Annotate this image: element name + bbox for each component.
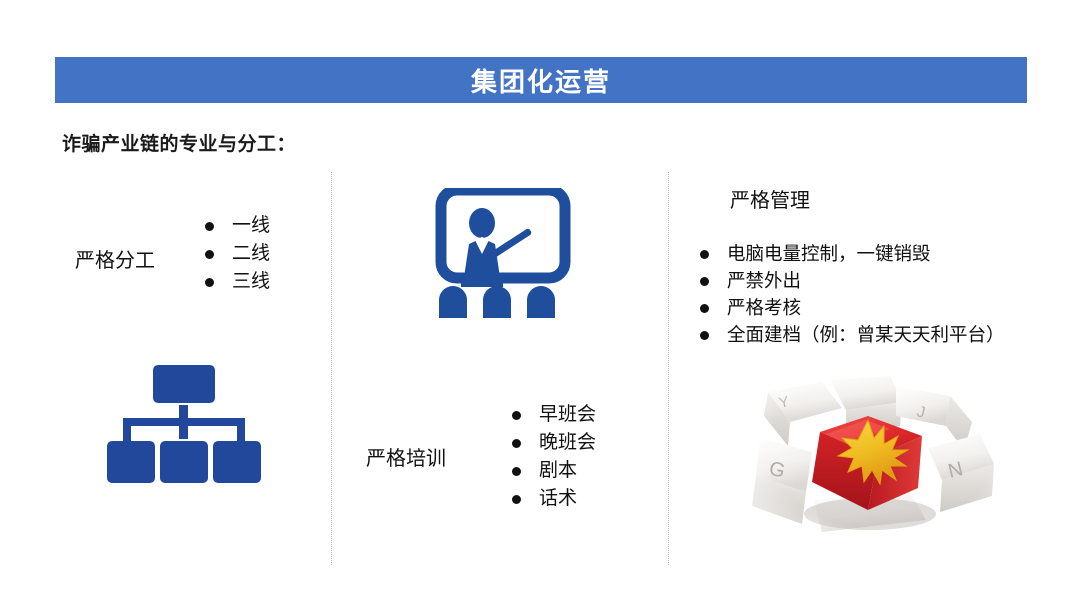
list-item-label: 严格考核 (727, 297, 801, 318)
list-item-label: 三线 (232, 271, 270, 292)
list-item-label: 早班会 (539, 404, 596, 425)
bullet-dot-icon (700, 304, 709, 313)
slide-canvas: 集团化运营 诈骗产业链的专业与分工： 严格分工 一线 二线 三线 (0, 0, 1080, 608)
list-item: 晚班会 (512, 429, 596, 457)
bullet-dot-icon (512, 495, 521, 504)
bullet-dot-icon (205, 250, 214, 259)
list-item-label: 全面建档（例：曾某天天利平台） (727, 324, 1005, 345)
bullet-dot-icon (205, 222, 214, 231)
right-column-bullet-list: 电脑电量控制，一键销毁 严禁外出 严格考核 全面建档（例：曾某天天利平台） (700, 240, 1005, 348)
left-column-label: 严格分工 (75, 244, 155, 273)
list-item: 话术 (512, 485, 596, 513)
bullet-dot-icon (700, 250, 709, 259)
column-divider-right (668, 172, 669, 565)
right-column-heading: 严格管理 (730, 184, 810, 213)
middle-column-bullet-list: 早班会 晚班会 剧本 话术 (512, 401, 596, 513)
list-item: 严格考核 (700, 294, 1005, 321)
list-item-label: 电脑电量控制，一键销毁 (727, 243, 931, 264)
bullet-dot-icon (700, 277, 709, 286)
list-item: 一线 (205, 212, 270, 240)
org-chart-icon (100, 365, 268, 483)
list-item-label: 一线 (232, 215, 270, 236)
list-item-label: 剧本 (539, 460, 577, 481)
bullet-dot-icon (205, 278, 214, 287)
bullet-dot-icon (700, 331, 709, 340)
list-item: 早班会 (512, 401, 596, 429)
left-column-bullet-list: 一线 二线 三线 (205, 212, 270, 296)
classroom-training-icon (433, 188, 573, 318)
list-item: 三线 (205, 268, 270, 296)
bullet-dot-icon (512, 439, 521, 448)
slide-title-bar: 集团化运营 (55, 57, 1027, 103)
list-item-label: 严禁外出 (727, 270, 801, 291)
list-item: 全面建档（例：曾某天天利平台） (700, 321, 1005, 348)
list-item-label: 话术 (539, 488, 577, 509)
list-item: 严禁外出 (700, 267, 1005, 294)
slide-subtitle: 诈骗产业链的专业与分工： (62, 129, 296, 156)
bullet-dot-icon (512, 411, 521, 420)
list-item: 剧本 (512, 457, 596, 485)
red-explosion-key-photo: Y J G N (750, 364, 1012, 540)
list-item: 二线 (205, 240, 270, 268)
column-divider-left (331, 172, 332, 565)
list-item-label: 晚班会 (539, 432, 596, 453)
list-item-label: 二线 (232, 243, 270, 264)
middle-column-label: 严格培训 (366, 442, 446, 471)
list-item: 电脑电量控制，一键销毁 (700, 240, 1005, 267)
bullet-dot-icon (512, 467, 521, 476)
page-title: 集团化运营 (471, 62, 611, 99)
